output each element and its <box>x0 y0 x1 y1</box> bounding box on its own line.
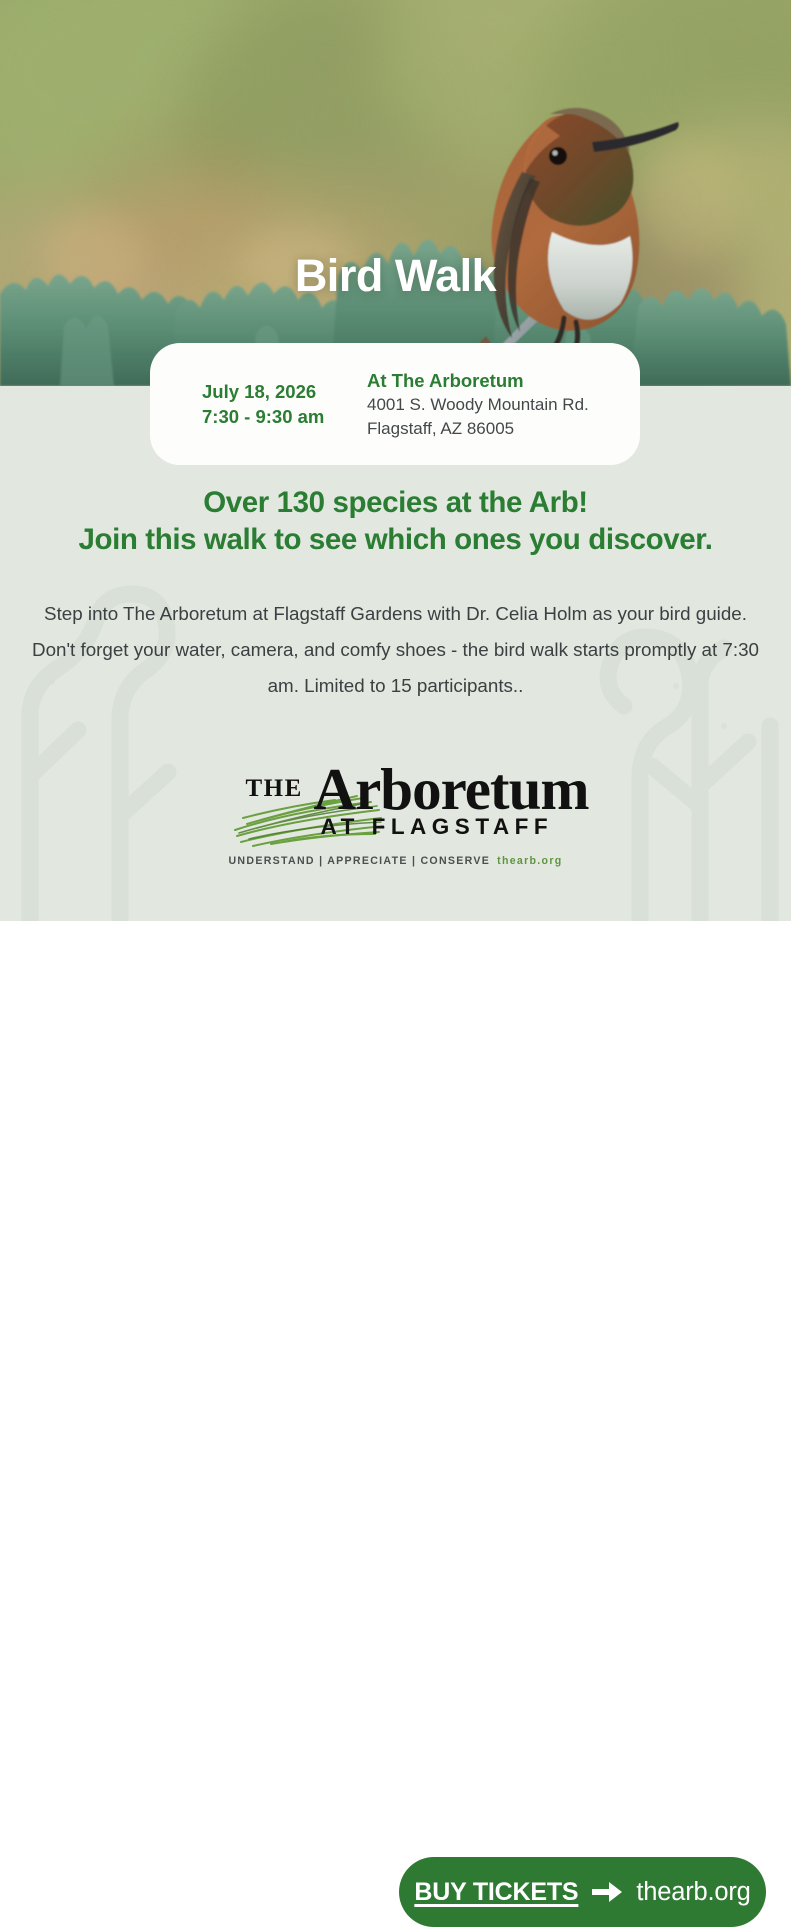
cta-url[interactable]: thearb.org <box>636 1878 750 1907</box>
buy-tickets-button[interactable]: BUY TICKETS thearb.org <box>399 1857 766 1927</box>
headline-line-2: Join this walk to see which ones you dis… <box>0 521 791 558</box>
event-datetime: July 18, 2026 7:30 - 9:30 am <box>202 379 367 429</box>
tagline-text: UNDERSTAND | APPRECIATE | CONSERVE <box>228 855 490 867</box>
logo-mark: THE Arboretum AT FLAGSTAFF <box>236 752 556 848</box>
buy-tickets-label[interactable]: BUY TICKETS <box>414 1878 578 1907</box>
logo-tagline: UNDERSTAND | APPRECIATE | CONSERVE thear… <box>228 855 562 867</box>
event-poster: Bird Walk <box>0 0 791 1024</box>
page-title: Bird Walk <box>0 250 791 302</box>
event-date: July 18, 2026 <box>202 379 367 404</box>
event-location: At The Arboretum 4001 S. Woody Mountain … <box>367 368 589 441</box>
headline-line-1: Over 130 species at the Arb! <box>0 484 791 521</box>
hummingbird-illustration <box>440 60 700 386</box>
tagline-url: thearb.org <box>497 855 562 867</box>
arrow-right-icon <box>592 1881 622 1903</box>
venue-name: At The Arboretum <box>367 368 589 393</box>
logo-at-flagstaff: AT FLAGSTAFF <box>321 814 554 840</box>
hero-photo: Bird Walk <box>0 0 791 386</box>
logo-the: THE <box>246 775 303 803</box>
event-details-card: July 18, 2026 7:30 - 9:30 am At The Arbo… <box>150 343 640 465</box>
address-line-1: 4001 S. Woody Mountain Rd. <box>367 393 589 417</box>
footer-bar: BUY TICKETS thearb.org <box>0 921 791 1024</box>
address-line-2: Flagstaff, AZ 86005 <box>367 417 589 441</box>
event-headline: Over 130 species at the Arb! Join this w… <box>0 484 791 558</box>
arboretum-logo: THE Arboretum AT FLAGSTAFF UNDERSTAND | … <box>0 752 791 867</box>
event-time: 7:30 - 9:30 am <box>202 404 367 429</box>
event-description: Step into The Arboretum at Flagstaff Gar… <box>20 596 771 704</box>
